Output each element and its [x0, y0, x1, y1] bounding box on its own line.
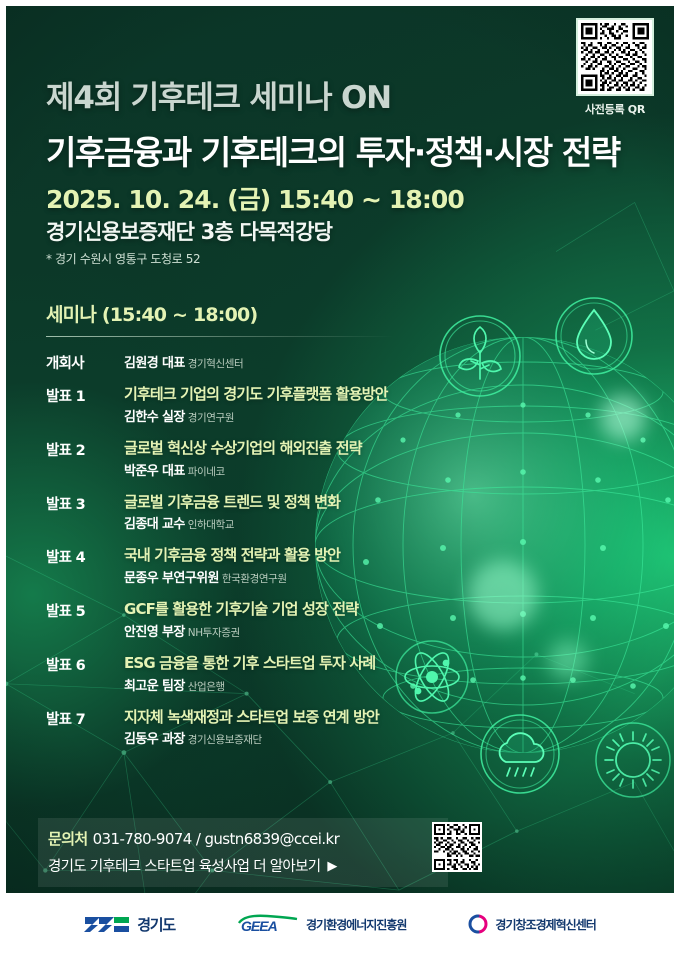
program-row-title: GCF를 활용한 기후기술 기업 성장 전략	[124, 600, 446, 619]
speaker-name: 안진영 부장	[124, 625, 185, 640]
geea-wordmark: GEEA	[237, 914, 299, 934]
program-row-label: 발표 7	[46, 708, 114, 729]
program-row-label: 발표 3	[46, 493, 114, 514]
pre-registration-qr-block[interactable]: 사전등록 QR	[568, 18, 662, 117]
program-row-speaker: 김동우 과장경기신용보증재단	[124, 728, 446, 747]
contact-details[interactable]: 031-780-9074 / gustn6839@ccei.kr	[93, 830, 340, 848]
more-info-line[interactable]: 경기도 기후테크 스타트업 육성사업 더 알아보기▶	[48, 855, 434, 876]
speaker-affiliation: 산업은행	[188, 681, 225, 693]
contact-box: 문의처031-780-9074 / gustn6839@ccei.kr 경기도 …	[38, 818, 448, 887]
speaker-name: 박준우 대표	[124, 464, 185, 479]
program-heading: 세미나 (15:40 ~ 18:00)	[46, 300, 257, 327]
footer-logo-bar: 경기도 GEEA 경기환경에너지진흥원 경기창조경제혁신센터	[6, 893, 674, 955]
svg-text:GEEA: GEEA	[241, 918, 278, 934]
program-row-speaker: 박준우 대표파이네코	[124, 460, 446, 479]
ccei-circle-mark	[468, 914, 488, 934]
program-row: 발표 6 ESG 금융을 통한 기후 스타트업 투자 사례 최고운 팀장산업은행	[46, 654, 446, 694]
program-row-speaker: 최고운 팀장산업은행	[124, 675, 446, 694]
speaker-name: 김한수 실장	[124, 410, 185, 425]
program-row: 발표 3 글로벌 기후금융 트렌드 및 정책 변화 김종대 교수인하대학교	[46, 493, 446, 533]
program-row-speaker: 김한수 실장경기연구원	[124, 406, 446, 425]
program-row-speaker: 김원경 대표경기혁신센터	[124, 352, 446, 371]
poster-venue: 경기신용보증재단 3층 다목적강당	[46, 216, 332, 246]
speaker-name: 최고운 팀장	[124, 679, 185, 694]
program-row-label: 발표 1	[46, 385, 114, 406]
speaker-affiliation: NH투자증권	[188, 627, 240, 639]
logo-gyeonggi-do: 경기도	[84, 914, 175, 935]
program-row-title: 지자체 녹색재정과 스타트업 보증 연계 방안	[124, 708, 446, 727]
speaker-affiliation: 경기신용보증재단	[188, 734, 262, 746]
program-row: 발표 4 국내 기후금융 정책 전략과 활용 방안 문종우 부연구위원한국환경연…	[46, 546, 446, 586]
speaker-affiliation: 경기혁신센터	[188, 358, 244, 370]
speaker-name: 문종우 부연구위원	[124, 571, 219, 586]
program-row-label: 발표 5	[46, 600, 114, 621]
program-row: 발표 2 글로벌 혁신상 수상기업의 해외진출 전략 박준우 대표파이네코	[46, 439, 446, 479]
logo-label: 경기환경에너지진흥원	[306, 916, 406, 933]
program-row-label: 개회사	[46, 352, 114, 373]
gyeonggi-chevron-mark	[84, 914, 130, 934]
logo-label: 경기창조경제혁신센터	[495, 916, 595, 933]
speaker-name: 김원경 대표	[124, 356, 185, 371]
program-row-label: 발표 6	[46, 654, 114, 675]
speaker-affiliation: 파이네코	[188, 466, 225, 478]
program-row-title: 기후테크 기업의 경기도 기후플랫폼 활용방안	[124, 385, 446, 404]
logo-geea: GEEA 경기환경에너지진흥원	[237, 914, 406, 934]
program-row-speaker: 문종우 부연구위원한국환경연구원	[124, 567, 446, 586]
program-row-title: 글로벌 기후금융 트렌드 및 정책 변화	[124, 493, 446, 512]
seminar-poster: 사전등록 QR 제4회 기후테크 세미나 ON 기후금융과 기후테크의 투자·정…	[0, 0, 680, 961]
program-row: 발표 7 지자체 녹색재정과 스타트업 보증 연계 방안 김동우 과장경기신용보…	[46, 708, 446, 748]
program-row-label: 발표 4	[46, 546, 114, 567]
speaker-name: 김종대 교수	[124, 517, 185, 532]
qr-code-icon[interactable]	[576, 18, 654, 96]
speaker-name: 김동우 과장	[124, 732, 185, 747]
qr-caption: 사전등록 QR	[568, 101, 662, 117]
program-row: 개회사 김원경 대표경기혁신센터	[46, 352, 446, 371]
poster-datetime: 2025. 10. 24. (금) 15:40 ~ 18:00	[46, 180, 464, 216]
contact-label: 문의처	[48, 830, 88, 848]
more-info-text: 경기도 기후테크 스타트업 육성사업 더 알아보기	[48, 859, 320, 875]
speaker-affiliation: 인하대학교	[188, 519, 234, 531]
poster-address: * 경기 수원시 영통구 도청로 52	[46, 250, 200, 267]
program-row-title: ESG 금융을 통한 기후 스타트업 투자 사례	[124, 654, 446, 673]
play-triangle-icon[interactable]: ▶	[327, 859, 336, 874]
program-row: 발표 5 GCF를 활용한 기후기술 기업 성장 전략 안진영 부장NH투자증권	[46, 600, 446, 640]
program-row: 발표 1 기후테크 기업의 경기도 기후플랫폼 활용방안 김한수 실장경기연구원	[46, 385, 446, 425]
program-row-speaker: 김종대 교수인하대학교	[124, 513, 446, 532]
program-row-speaker: 안진영 부장NH투자증권	[124, 621, 446, 640]
logo-ccei: 경기창조경제혁신센터	[468, 914, 595, 934]
logo-label: 경기도	[137, 914, 175, 935]
contact-line: 문의처031-780-9074 / gustn6839@ccei.kr	[48, 828, 434, 849]
speaker-affiliation: 한국환경연구원	[222, 573, 287, 585]
program-divider	[46, 336, 394, 337]
more-info-qr-code-icon[interactable]	[432, 822, 482, 872]
speaker-affiliation: 경기연구원	[188, 412, 234, 424]
program-row-title: 국내 기후금융 정책 전략과 활용 방안	[124, 546, 446, 565]
program-list: 개회사 김원경 대표경기혁신센터 발표 1 기후테크 기업의 경기도 기후플랫폼…	[46, 352, 446, 761]
poster-title-line1: 제4회 기후테크 세미나 ON	[46, 72, 391, 117]
program-row-title: 글로벌 혁신상 수상기업의 해외진출 전략	[124, 439, 446, 458]
poster-title-line2: 기후금융과 기후테크의 투자·정책·시장 전략	[46, 126, 620, 174]
program-row-label: 발표 2	[46, 439, 114, 460]
